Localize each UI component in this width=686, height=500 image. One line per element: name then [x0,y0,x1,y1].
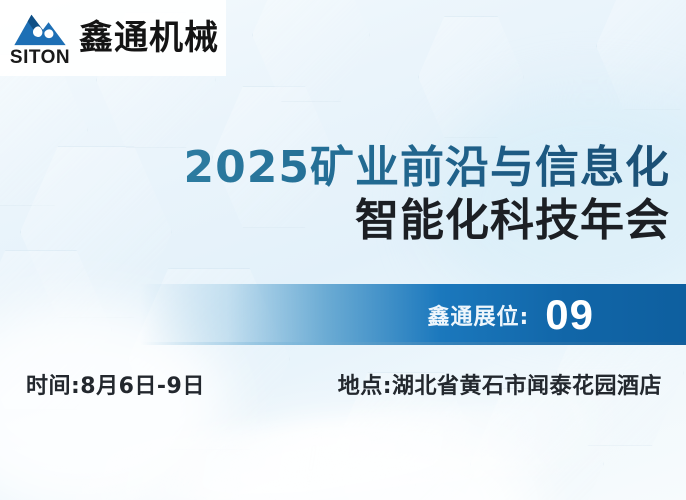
headline-line-2: 智能化科技年会 [0,195,670,247]
event-details: 时间:8月6日-9日 地点:湖北省黄石市闻泰花园酒店 [26,368,662,400]
booth-label: 鑫通展位: [427,299,529,331]
event-location: 地点:湖北省黄石市闻泰花园酒店 [338,368,662,400]
brand-chinese-name: 鑫通机械 [79,21,219,55]
mountain-logo-icon: SITON [9,9,71,67]
background-glow-bottom [180,418,540,500]
headline-line-1: 2025矿业前沿与信息化 [0,142,670,193]
background-light-streak [58,391,622,500]
event-time: 时间:8月6日-9日 [26,368,205,400]
booth-banner: 鑫通展位: 09 [140,284,686,345]
booth-number: 09 [545,294,594,336]
event-poster: SITON 鑫通机械 2025矿业前沿与信息化 智能化科技年会 鑫通展位: 09… [0,0,686,500]
brand-latin-name: SITON [10,48,70,67]
brand-logo: SITON 鑫通机械 [0,0,226,76]
event-headline: 2025矿业前沿与信息化 智能化科技年会 [0,142,670,247]
